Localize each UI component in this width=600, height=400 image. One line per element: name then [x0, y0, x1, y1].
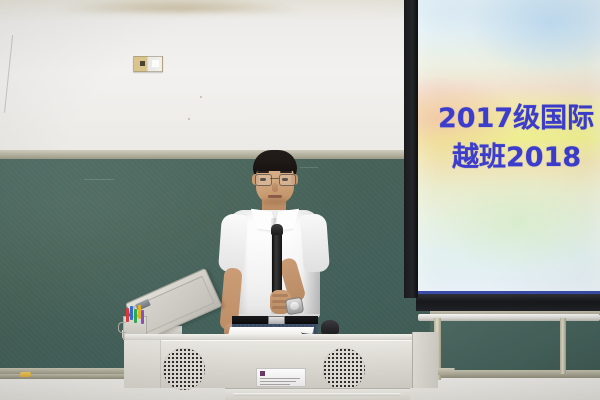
chalk-piece: [20, 372, 31, 378]
pen-cup-handle: [118, 322, 126, 333]
screen-stand-leg-right: [560, 318, 566, 374]
slide-text-line-2: 越班2018: [452, 138, 600, 177]
wall-speck: [188, 118, 190, 120]
label-line: [260, 381, 296, 382]
screen-support-rail: [418, 314, 600, 321]
blackboard-right: [430, 314, 600, 372]
eyebrow-left: [257, 171, 269, 173]
slide-tint-blue: [469, 0, 600, 77]
outlet-highlight: [152, 60, 159, 67]
marker-pen: [126, 308, 129, 322]
slide-text: 2017级国际 越班2018: [438, 99, 600, 177]
marker-pen: [134, 309, 137, 323]
classroom-photo: 2017级国际 越班2018: [0, 0, 600, 400]
slide-text-line-1: 2017级国际: [438, 99, 600, 138]
wristwatch-icon: [285, 297, 305, 316]
slide-tint-green: [435, 172, 600, 273]
watch-face: [289, 301, 299, 310]
speaker-grille-icon: [163, 348, 205, 390]
label-line: [260, 378, 300, 379]
lens-right: [279, 174, 296, 186]
marker-pen: [141, 310, 144, 324]
speaker-grille-mesh: [163, 348, 205, 390]
blackboard-right-frame-bottom: [430, 370, 600, 378]
lectern-drawer-handle[interactable]: [233, 393, 401, 396]
eyebrow-right: [280, 171, 292, 173]
projection-screen: 2017级国际 越班2018: [404, 0, 600, 314]
lectern-label: [256, 368, 306, 387]
wall-outlet-icon: [133, 56, 163, 72]
marker-pen: [130, 306, 133, 320]
wall-stain: [55, 0, 305, 12]
chalk-smudge: [84, 179, 114, 180]
hair-fringe: [254, 155, 296, 171]
wall-crack: [4, 35, 35, 115]
multimedia-lectern[interactable]: [125, 334, 430, 400]
microphone-head: [271, 224, 283, 235]
wall-speck: [200, 96, 202, 98]
lens-left: [255, 174, 272, 186]
lectern-left-panel: [124, 340, 161, 388]
sleeve-right: [300, 213, 330, 273]
screen-side-frame: [404, 0, 418, 298]
label-logo: [260, 371, 265, 376]
sleeve-left: [218, 213, 248, 273]
label-line: [260, 384, 290, 385]
speaker-grille-mesh: [323, 348, 365, 390]
glasses-bridge: [270, 178, 279, 179]
speaker-grille-icon: [323, 348, 365, 390]
chin-shadow: [262, 198, 288, 205]
finger: [272, 294, 288, 297]
lectern-right-panel: [412, 332, 438, 388]
finger: [272, 306, 287, 309]
screen-bottom-rail: [416, 294, 600, 311]
outlet-hole: [140, 61, 145, 66]
nose: [272, 183, 278, 192]
